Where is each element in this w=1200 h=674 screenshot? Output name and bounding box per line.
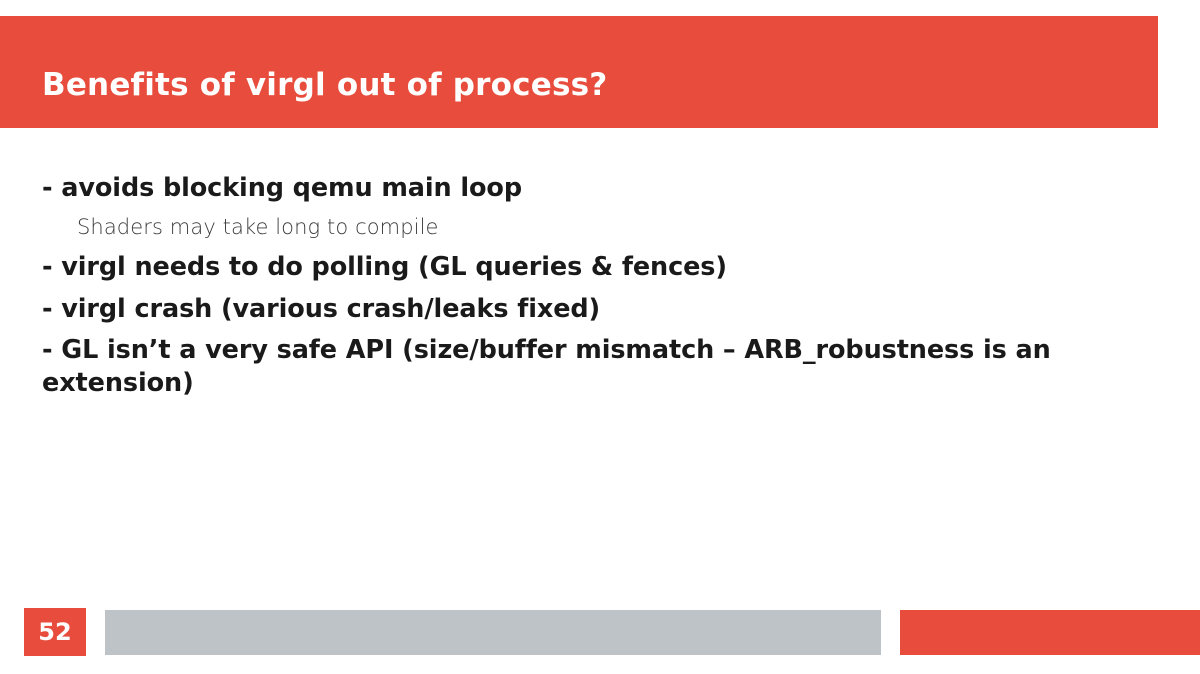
slide-footer: 52 bbox=[0, 608, 1200, 658]
bullet-item: - virgl needs to do polling (GL queries … bbox=[42, 251, 1142, 284]
bullet-item: - GL isn’t a very safe API (size/buffer … bbox=[42, 334, 1134, 399]
sub-bullet-item: Shaders may take long to compile bbox=[42, 214, 1142, 240]
bullet-item: - avoids blocking qemu main loop bbox=[42, 172, 1142, 205]
page-number-badge: 52 bbox=[24, 608, 86, 656]
slide-body: - avoids blocking qemu main loop Shaders… bbox=[42, 172, 1142, 408]
footer-bar-gray bbox=[105, 610, 881, 655]
slide-title: Benefits of virgl out of process? bbox=[42, 70, 1132, 101]
presentation-slide: Benefits of virgl out of process? - avoi… bbox=[0, 0, 1200, 674]
footer-bar-accent bbox=[900, 610, 1200, 655]
bullet-item: - virgl crash (various crash/leaks fixed… bbox=[42, 293, 1142, 326]
